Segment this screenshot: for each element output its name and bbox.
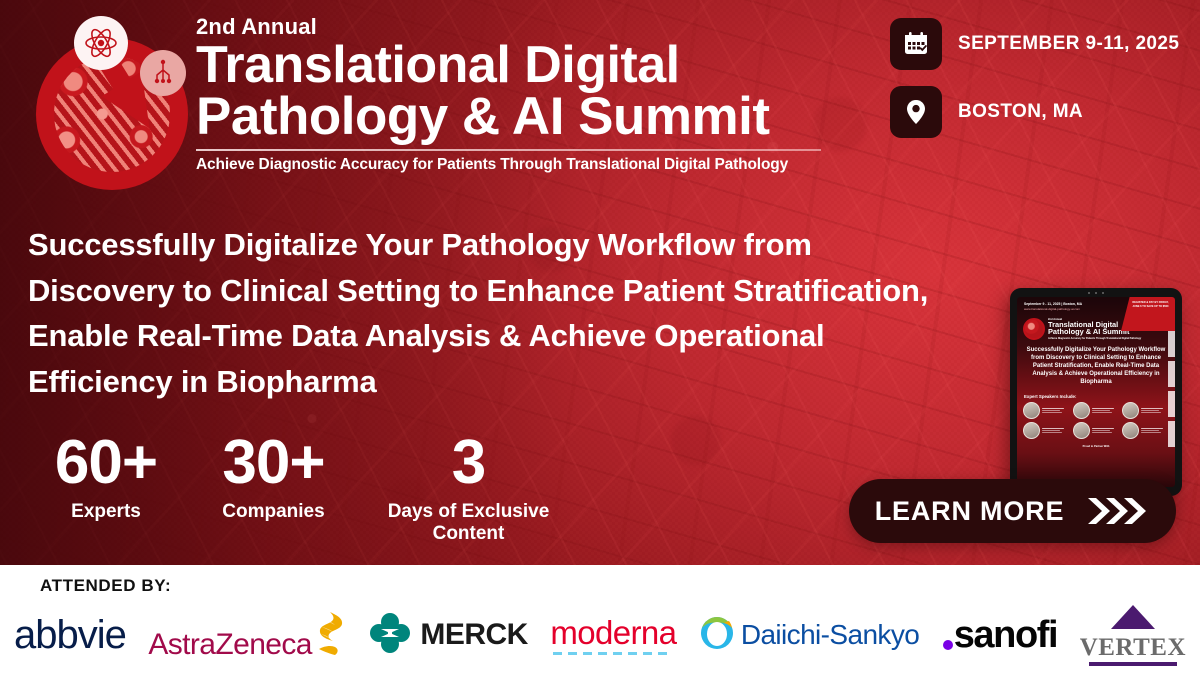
sponsor-logo-merck[interactable]: MERCK	[369, 612, 528, 659]
vertex-triangle-icon	[1110, 604, 1156, 635]
sponsor-logo-vertex[interactable]: VERTEX	[1080, 604, 1186, 666]
brochure-speakers-label: Expert Speakers Include:	[1017, 387, 1175, 402]
brochure-corner-badge: REGISTER & PAY BY FRIDAY, JUNE 6 TO SAVE…	[1121, 297, 1175, 331]
daiichi-orb-icon	[699, 615, 735, 656]
speaker-name-lines	[1042, 408, 1064, 413]
sponsor-logo-daiichi-sankyo[interactable]: Daiichi-Sankyo	[699, 615, 919, 656]
event-kicker: 2nd Annual	[196, 16, 856, 38]
event-title-line1: Translational Digital	[196, 40, 856, 91]
stat-label: Companies	[186, 501, 361, 523]
brochure-logo-mark	[1023, 318, 1045, 340]
speaker-item	[1073, 402, 1120, 419]
speaker-item	[1023, 422, 1070, 439]
learn-more-label: LEARN MORE	[875, 496, 1065, 527]
sponsor-label: sanofi	[954, 616, 1058, 654]
tablet-screen: REGISTER & PAY BY FRIDAY, JUNE 6 TO SAVE…	[1017, 297, 1175, 487]
banner-header: 2nd Annual Translational Digital Patholo…	[0, 0, 1200, 200]
stat-number: 60+	[26, 432, 186, 494]
title-divider	[196, 149, 821, 151]
event-tagline: Achieve Diagnostic Accuracy for Patients…	[196, 156, 856, 174]
calendar-icon	[890, 18, 942, 70]
moderna-dashed-rule	[553, 652, 673, 655]
attended-by-label: ATTENDED BY:	[40, 576, 171, 596]
avatar	[1023, 402, 1040, 419]
sponsor-label: moderna	[550, 616, 676, 649]
sponsor-label: MERCK	[420, 620, 528, 650]
speaker-item	[1023, 402, 1070, 419]
sponsor-logo-abbvie[interactable]: abbvie	[14, 615, 126, 655]
avatar	[1023, 422, 1040, 439]
speaker-item	[1122, 402, 1169, 419]
brochure-speaker-grid	[1017, 402, 1175, 439]
stats-row: 60+ Experts 30+ Companies 3 Days of Excl…	[26, 432, 576, 545]
vertex-underline	[1089, 662, 1177, 666]
learn-more-button[interactable]: LEARN MORE	[849, 479, 1176, 543]
brochure-footer: Proud to Partner With	[1017, 439, 1175, 448]
speaker-item	[1073, 422, 1120, 439]
stat-number: 3	[361, 432, 576, 494]
sponsor-logo-moderna[interactable]: moderna	[550, 616, 676, 655]
stat-label: Experts	[26, 501, 186, 523]
speaker-name-lines	[1042, 428, 1064, 433]
sponsor-logo-astrazeneca[interactable]: AstraZeneca	[148, 611, 346, 660]
event-date-row: SEPTEMBER 9-11, 2025	[890, 18, 1170, 70]
astrazeneca-helix-icon	[313, 611, 347, 660]
event-location-row: BOSTON, MA	[890, 86, 1170, 138]
sponsor-logo-sanofi[interactable]: sanofi	[942, 614, 1058, 657]
speaker-name-lines	[1092, 408, 1114, 413]
sponsor-logo-row: abbvie AstraZeneca	[0, 603, 1200, 667]
sponsor-label: AstraZeneca	[148, 630, 311, 660]
speaker-name-lines	[1092, 428, 1114, 433]
avatar	[1073, 402, 1090, 419]
title-block: 2nd Annual Translational Digital Patholo…	[196, 16, 856, 174]
hero-section: 2nd Annual Translational Digital Patholo…	[0, 0, 1200, 565]
stat-label: Days of Exclusive Content	[361, 501, 576, 545]
sponsor-label: Daiichi-Sankyo	[741, 621, 919, 649]
speaker-name-lines	[1141, 408, 1163, 413]
event-title-line2: Pathology & AI Summit	[196, 91, 856, 143]
summit-logo	[22, 12, 212, 192]
event-location: BOSTON, MA	[958, 101, 1083, 123]
main-headline: Successfully Digitalize Your Pathology W…	[28, 222, 948, 404]
brochure-side-tabs	[1168, 331, 1175, 447]
brochure-tagline: Achieve Diagnostic Accuracy for Patients…	[1048, 337, 1141, 340]
map-pin-icon	[890, 86, 942, 138]
sanofi-dot-icon	[942, 614, 954, 657]
event-banner: 2nd Annual Translational Digital Patholo…	[0, 0, 1200, 675]
speaker-item	[1122, 422, 1169, 439]
brochure-tablet-mockup[interactable]: REGISTER & PAY BY FRIDAY, JUNE 6 TO SAVE…	[1010, 288, 1182, 496]
merck-clover-icon	[369, 612, 411, 659]
tablet-camera-dots	[1088, 292, 1104, 294]
speaker-name-lines	[1141, 428, 1163, 433]
atom-icon	[74, 16, 128, 70]
sponsor-bar: ATTENDED BY: abbvie AstraZeneca	[0, 565, 1200, 675]
triple-chevron-right-icon	[1088, 496, 1150, 526]
event-meta: SEPTEMBER 9-11, 2025 BOSTON, MA	[890, 18, 1170, 154]
stat-companies: 30+ Companies	[186, 432, 361, 545]
avatar	[1073, 422, 1090, 439]
stat-days: 3 Days of Exclusive Content	[361, 432, 576, 545]
avatar	[1122, 422, 1139, 439]
avatar	[1122, 402, 1139, 419]
sponsor-label: abbvie	[14, 615, 126, 655]
stat-experts: 60+ Experts	[26, 432, 186, 545]
ai-circuit-brain-icon	[140, 50, 186, 96]
brochure-headline: Successfully Digitalize Your Pathology W…	[1017, 340, 1175, 387]
stat-number: 30+	[186, 432, 361, 494]
event-date: SEPTEMBER 9-11, 2025	[958, 33, 1179, 55]
sponsor-label: VERTEX	[1080, 635, 1186, 660]
